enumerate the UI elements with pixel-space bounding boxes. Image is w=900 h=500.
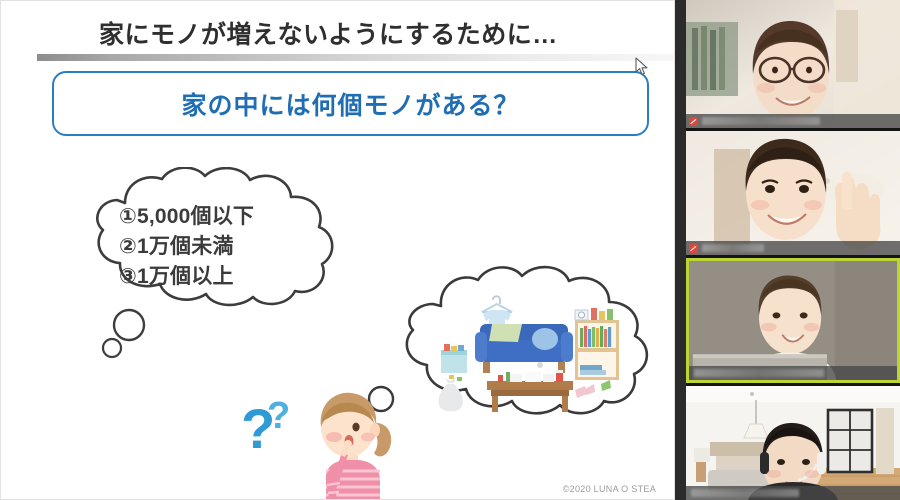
participant-name-bar-4 xyxy=(686,486,900,500)
participant-name-redacted xyxy=(694,369,824,377)
thinking-woman-illustration xyxy=(296,385,406,500)
slide-title: 家にモノが増えないようにするために… xyxy=(99,15,558,51)
question-text: 家の中には何個モノがある？ xyxy=(181,86,519,122)
video-feed-4 xyxy=(686,386,900,500)
participant-name-bar-3 xyxy=(689,366,897,380)
screen-share-window: 家にモノが増えないようにするために… 家の中には何個モノがある？ ①5,000個… xyxy=(0,0,900,500)
room-thought-cloud xyxy=(379,262,654,437)
answer-option-3: ③1万個以上 xyxy=(119,262,254,292)
participant-video-panel xyxy=(686,0,900,500)
answer-thought-cloud: ①5,000個以下 ②1万個未満 ③1万個以上 xyxy=(67,167,367,312)
participant-name-bar-2 xyxy=(686,241,900,255)
video-feed-1 xyxy=(686,0,900,128)
video-feed-3 xyxy=(689,261,897,382)
shared-slide: 家にモノが増えないようにするために… 家の中には何個モノがある？ ①5,000個… xyxy=(0,0,675,500)
answer-option-2: ②1万個未満 xyxy=(119,232,254,262)
mouse-pointer-icon xyxy=(635,57,649,76)
video-tile-participant-2[interactable] xyxy=(686,131,900,255)
question-box: 家の中には何個モノがある？ xyxy=(52,71,649,136)
mic-muted-icon xyxy=(689,117,698,126)
video-tile-participant-3[interactable] xyxy=(686,258,900,383)
room-cloud-shape xyxy=(379,262,654,437)
video-tile-participant-1[interactable] xyxy=(686,0,900,128)
video-feed-2 xyxy=(686,131,900,255)
participant-name-redacted xyxy=(702,117,820,125)
bookshelf-icon xyxy=(575,308,619,380)
answer-options: ①5,000個以下 ②1万個未満 ③1万個以上 xyxy=(119,202,254,291)
participant-name-redacted xyxy=(702,244,764,252)
answer-cloud-tail xyxy=(99,307,169,367)
copyright-text: ©2020 LUNA O STEA xyxy=(563,484,656,494)
participant-name-bar-1 xyxy=(686,114,900,128)
svg-text:?: ? xyxy=(267,395,290,437)
participant-name-redacted xyxy=(691,489,799,497)
title-divider xyxy=(37,54,675,61)
woman-figure xyxy=(296,385,406,500)
answer-option-1: ①5,000個以下 xyxy=(119,202,254,232)
slide-content: 家にモノが増えないようにするために… 家の中には何個モノがある？ ①5,000個… xyxy=(19,7,664,499)
video-tile-participant-4[interactable] xyxy=(686,386,900,500)
mic-muted-icon xyxy=(689,244,698,253)
